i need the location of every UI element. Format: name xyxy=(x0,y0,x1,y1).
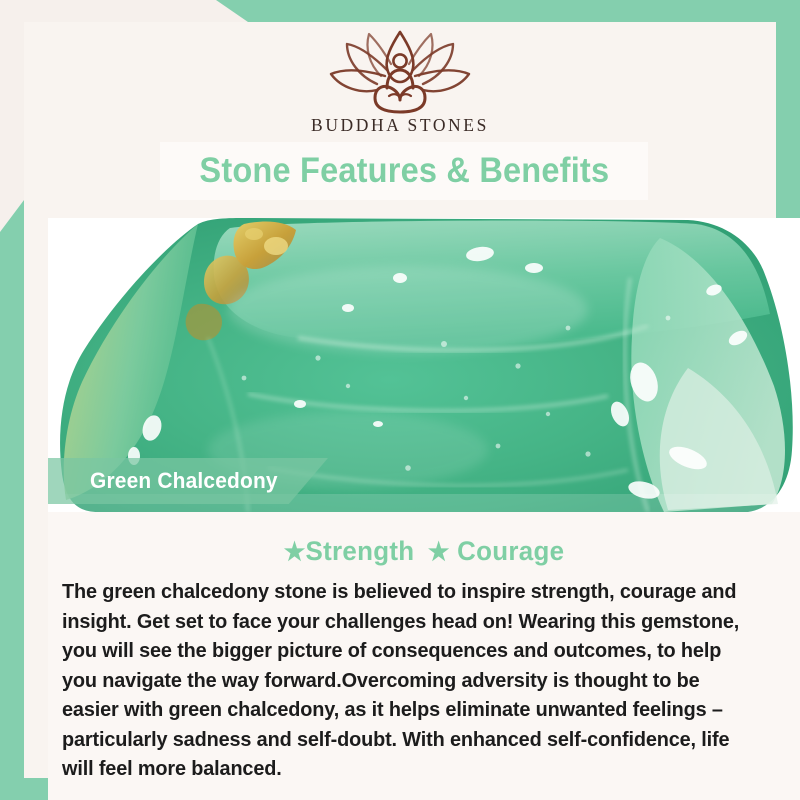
virtue-label-courage: Courage xyxy=(457,536,564,566)
brand-header: BUDDHA STONES xyxy=(24,22,776,146)
brand-wordmark: BUDDHA STONES xyxy=(311,115,489,136)
description-text: The green chalcedony stone is believed t… xyxy=(62,577,761,784)
virtues-heading: ★Strength★ Courage xyxy=(76,536,771,567)
lotus-meditating-figure-icon xyxy=(325,30,475,114)
description-section: ★Strength★ Courage The green chalcedony … xyxy=(48,512,800,800)
stone-photo: Green Chalcedony xyxy=(48,218,800,512)
star-icon-courage: ★ xyxy=(428,538,450,566)
virtue-label-strength: Strength xyxy=(306,536,415,566)
content-card: BUDDHA STONES Stone Features & Benefits xyxy=(24,22,776,778)
stone-name-badge: Green Chalcedony xyxy=(48,458,328,504)
title-banner: Stone Features & Benefits xyxy=(160,142,648,200)
stone-name-label: Green Chalcedony xyxy=(90,468,278,494)
star-icon-strength: ★ xyxy=(284,538,306,566)
page-title: Stone Features & Benefits xyxy=(199,151,609,191)
